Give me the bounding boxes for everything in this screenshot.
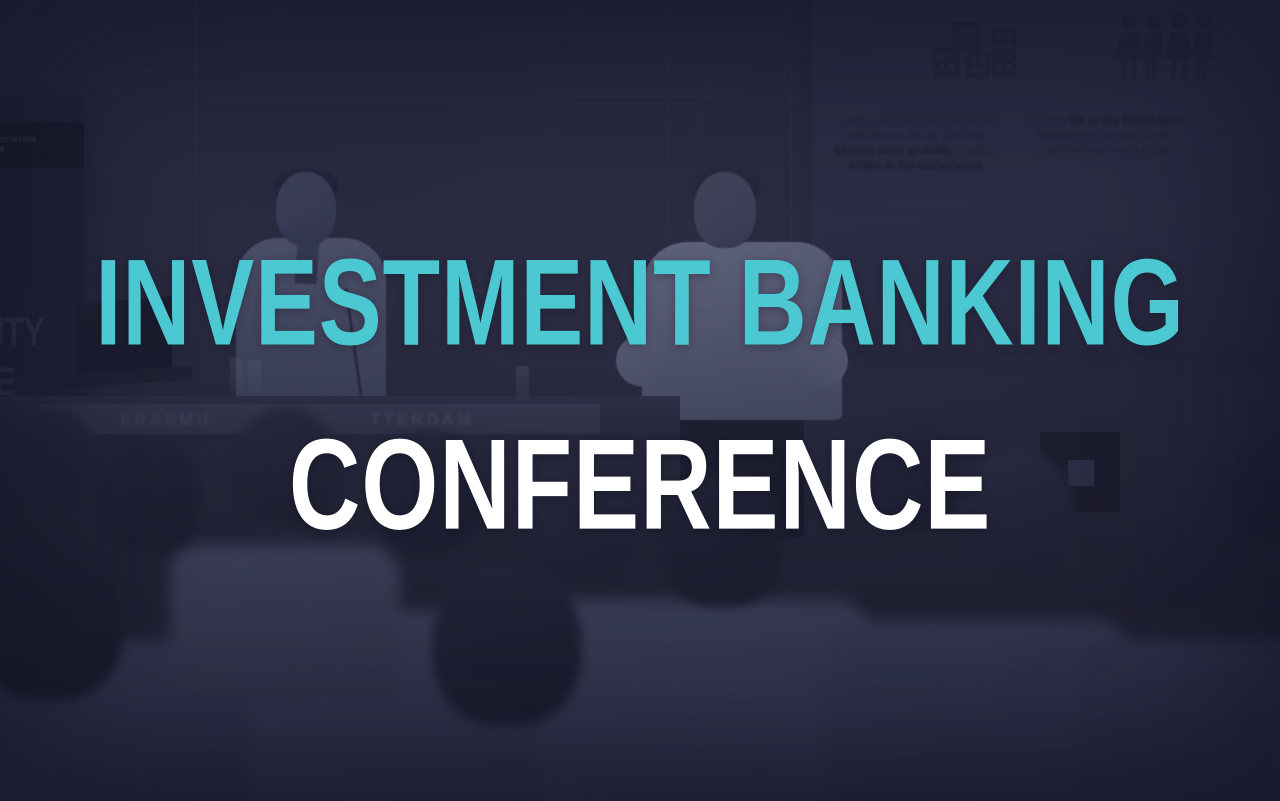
- hero-title-block: INVESTMENT BANKING CONFERENCE: [0, 0, 1280, 801]
- hero-title-line-1: INVESTMENT BANKING: [95, 247, 1185, 360]
- hero-title-line-2: CONFERENCE: [289, 425, 991, 544]
- hero-banner: Dutch companies that partnered with Priv…: [0, 0, 1280, 801]
